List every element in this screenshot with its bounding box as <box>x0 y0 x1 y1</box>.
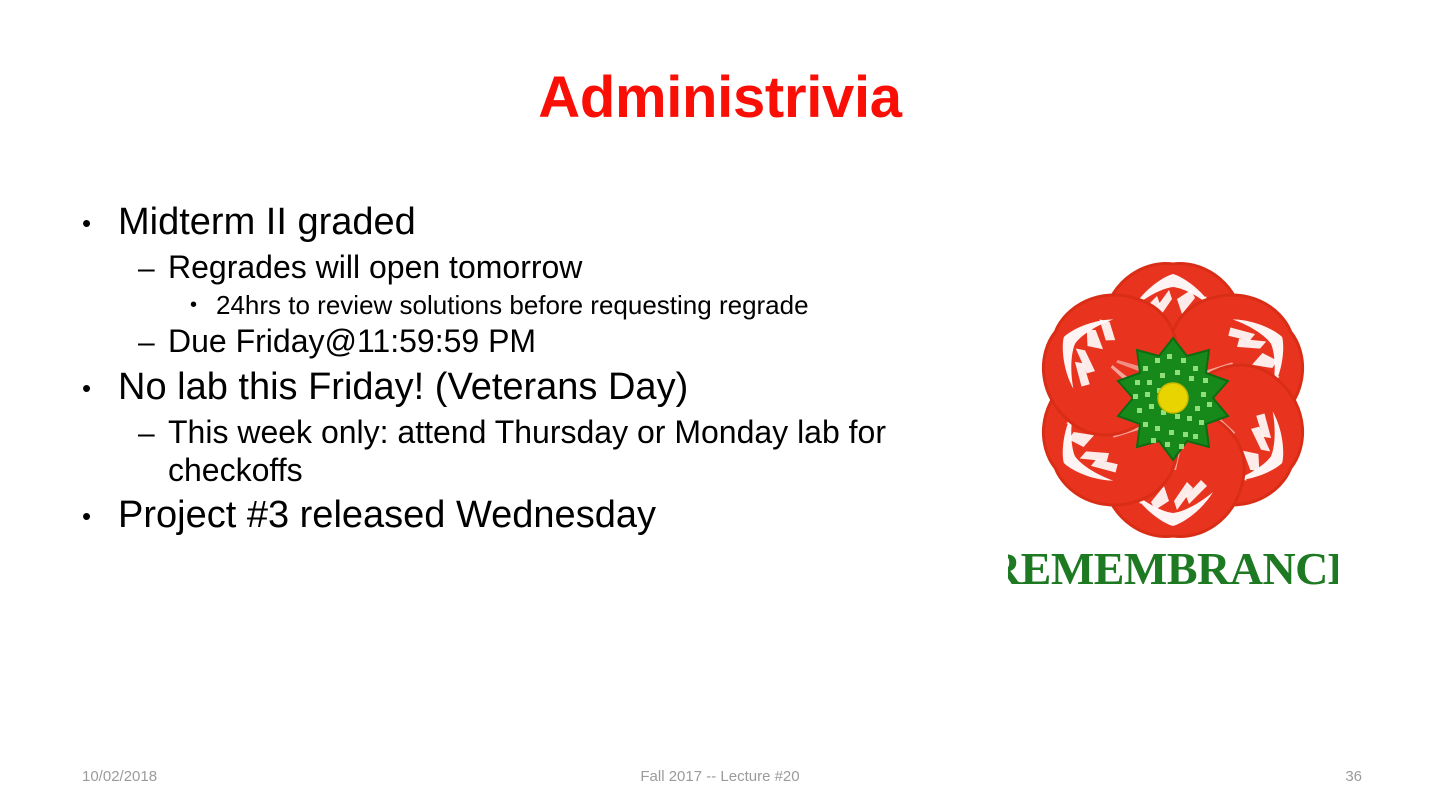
list-item-text: 24hrs to review solutions before request… <box>216 290 1002 321</box>
list-item-text: Midterm II graded <box>118 200 1002 245</box>
list-item-text: Project #3 released Wednesday <box>118 493 1002 538</box>
bullet-marker-icon: • <box>82 365 118 404</box>
slide-canvas: Administrivia • Midterm II graded – Regr… <box>0 0 1440 810</box>
list-item: • No lab this Friday! (Veterans Day) <box>72 365 1002 410</box>
page-title: Administrivia <box>0 66 1440 130</box>
list-item: – Due Friday@11:59:59 PM <box>72 323 1002 361</box>
list-item: – Regrades will open tomorrow <box>72 249 1002 287</box>
poppy-caption: REMEMBRANCE <box>1008 543 1338 594</box>
bullet-marker-icon: • <box>190 290 216 318</box>
dash-marker-icon: – <box>138 323 168 360</box>
footer-page-number: 36 <box>1345 768 1362 785</box>
remembrance-poppy-icon: REMEMBRANCE <box>1008 222 1338 600</box>
dash-marker-icon: – <box>138 414 168 451</box>
list-item-text: Due Friday@11:59:59 PM <box>168 323 1002 361</box>
bullet-marker-icon: • <box>82 493 118 532</box>
list-item-text: No lab this Friday! (Veterans Day) <box>118 365 1002 410</box>
list-item: • Midterm II graded <box>72 200 1002 245</box>
bullet-marker-icon: • <box>82 200 118 239</box>
footer-course-label: Fall 2017 -- Lecture #20 <box>0 768 1440 785</box>
dash-marker-icon: – <box>138 249 168 286</box>
list-item: • Project #3 released Wednesday <box>72 493 1002 538</box>
list-item: • 24hrs to review solutions before reque… <box>72 290 1002 321</box>
list-item-text: This week only: attend Thursday or Monda… <box>168 414 1002 490</box>
list-item: – This week only: attend Thursday or Mon… <box>72 414 1002 490</box>
list-item-text: Regrades will open tomorrow <box>168 249 1002 287</box>
bullet-list: • Midterm II graded – Regrades will open… <box>72 196 1002 542</box>
